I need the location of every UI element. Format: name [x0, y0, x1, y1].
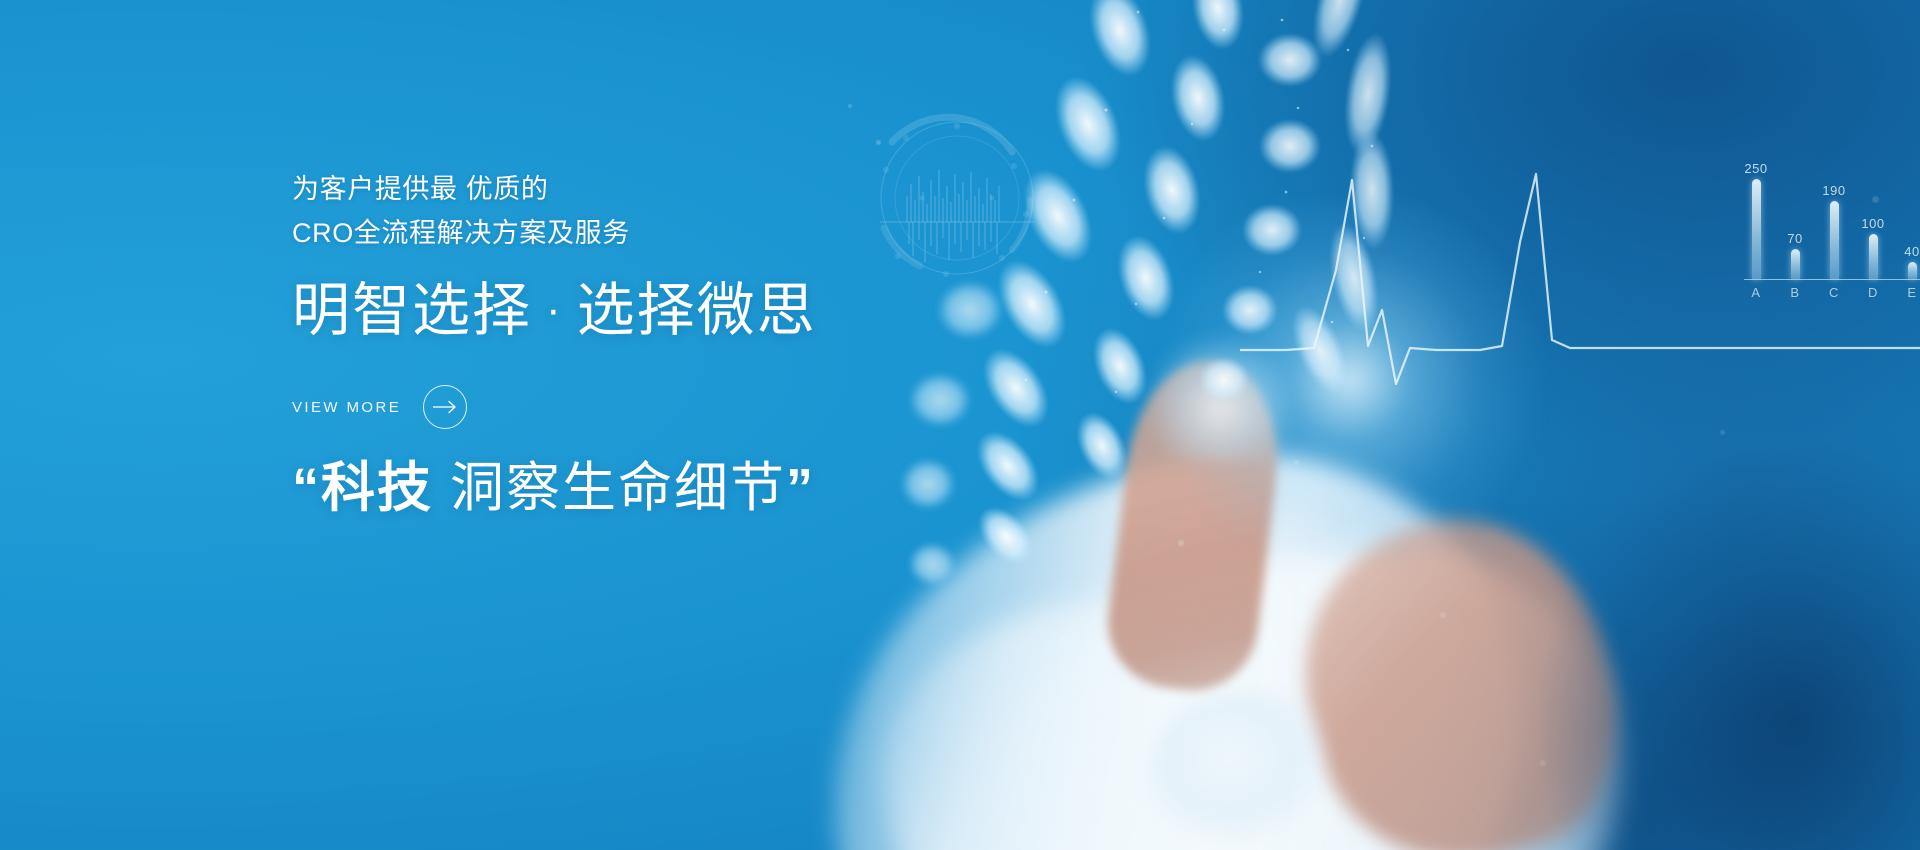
- knuckle-highlight: [1150, 690, 1350, 850]
- bar-value-d: 100: [1861, 216, 1884, 231]
- bar-c: [1830, 201, 1839, 279]
- bokeh-dot: [1540, 760, 1546, 766]
- subheading-line-2: CRO全流程解决方案及服务: [292, 212, 630, 256]
- bar-column-c: 190: [1828, 150, 1840, 279]
- bar-chart-overlay: 250 70 190 100 40 A B C D: [1744, 150, 1920, 322]
- hero-banner: 250 70 190 100 40 A B C D: [0, 0, 1920, 850]
- quote-open-mark: “: [292, 458, 321, 518]
- bokeh-dot: [1720, 430, 1725, 435]
- x-label-c: C: [1828, 285, 1840, 300]
- chart-plot-area: 250 70 190 100 40: [1744, 150, 1920, 280]
- hero-headline: 明智选择·选择微思: [292, 278, 817, 345]
- bar-d: [1869, 234, 1878, 279]
- bar-value-b: 70: [1787, 231, 1802, 246]
- x-label-e: E: [1906, 285, 1918, 300]
- bokeh-dot: [1084, 700, 1089, 705]
- view-more-button[interactable]: VIEW MORE: [292, 385, 467, 429]
- x-label-a: A: [1750, 285, 1762, 300]
- bar-column-e: 40: [1906, 150, 1918, 279]
- bar-column-b: 70: [1789, 150, 1801, 279]
- bar-column-a: 250: [1750, 150, 1762, 279]
- bar-value-e: 40: [1904, 244, 1919, 259]
- bokeh-dot: [1440, 612, 1446, 618]
- bar-b: [1791, 249, 1800, 279]
- quote-close-mark: ”: [786, 458, 815, 518]
- hero-quote: “科技 洞察生命细节”: [292, 455, 815, 523]
- headline-right: 选择微思: [577, 278, 817, 343]
- subheading-line-1: 为客户提供最 优质的: [292, 174, 549, 204]
- bar-value-a: 250: [1744, 161, 1767, 176]
- hero-text-block: 为客户提供最 优质的 CRO全流程解决方案及服务 明智选择·选择微思 VIEW …: [292, 0, 1052, 850]
- bar-value-c: 190: [1822, 183, 1845, 198]
- arrow-right-icon[interactable]: [423, 385, 467, 429]
- quote-light-part: 洞察生命细节: [433, 458, 786, 518]
- bar-a: [1752, 179, 1761, 279]
- view-more-label: VIEW MORE: [292, 399, 401, 416]
- bokeh-dot: [1294, 460, 1299, 465]
- hero-subheading: 为客户提供最 优质的 CRO全流程解决方案及服务: [292, 168, 630, 255]
- quote-bold-part: 科技: [321, 458, 433, 518]
- bar-column-d: 100: [1867, 150, 1879, 279]
- bokeh-dot: [1178, 540, 1184, 546]
- bokeh-dot: [1060, 636, 1067, 643]
- headline-separator: ·: [546, 285, 563, 334]
- x-label-b: B: [1789, 285, 1801, 300]
- headline-left: 明智选择: [292, 278, 532, 343]
- bar-e: [1908, 262, 1917, 279]
- chart-x-axis-labels: A B C D E: [1744, 280, 1920, 300]
- x-label-d: D: [1867, 285, 1879, 300]
